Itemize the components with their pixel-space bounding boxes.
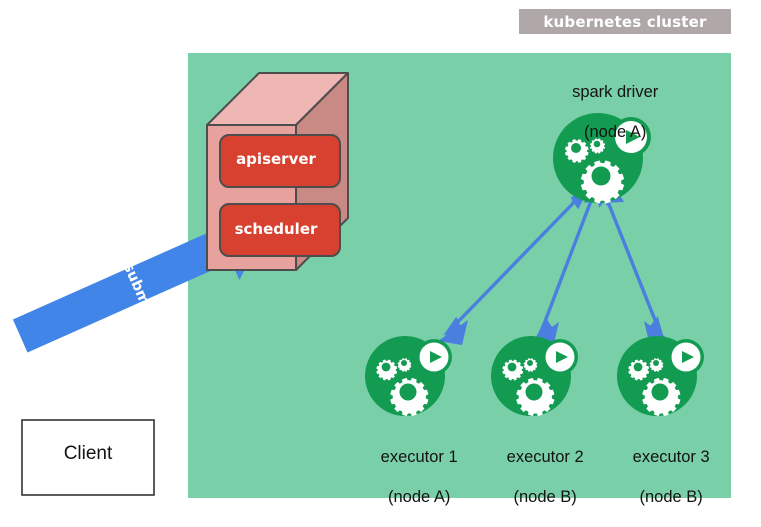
executor-2-label-line1: executor 2 [507, 448, 584, 466]
scheduler-label: scheduler [216, 220, 336, 238]
kubernetes-cluster-banner: kubernetes cluster [519, 9, 731, 34]
executor-3-label-line2: (node B) [640, 488, 703, 506]
executor-1-label-line2: (node A) [388, 488, 450, 506]
executor-3-label-line1: executor 3 [633, 448, 710, 466]
executor-1-label-line1: executor 1 [381, 448, 458, 466]
control-plane-box-shape [207, 73, 348, 270]
kubernetes-cluster-banner-label: kubernetes cluster [543, 13, 706, 31]
executor-3-label: executor 3 (node B) [597, 427, 727, 527]
spark-driver-label-line1: spark driver [572, 83, 658, 101]
executor-1-label: executor 1 (node A) [345, 427, 475, 527]
executor-2-label: executor 2 (node B) [471, 427, 601, 527]
spark-driver-label: spark driver (node A) [506, 62, 706, 162]
executor-2-label-line2: (node B) [514, 488, 577, 506]
diagram-canvas: kubernetes cluster spark driver (node A)… [0, 0, 761, 516]
spark-driver-label-line2: (node A) [584, 123, 646, 141]
client-label: Client [22, 443, 154, 465]
apiserver-label: apiserver [216, 150, 336, 168]
